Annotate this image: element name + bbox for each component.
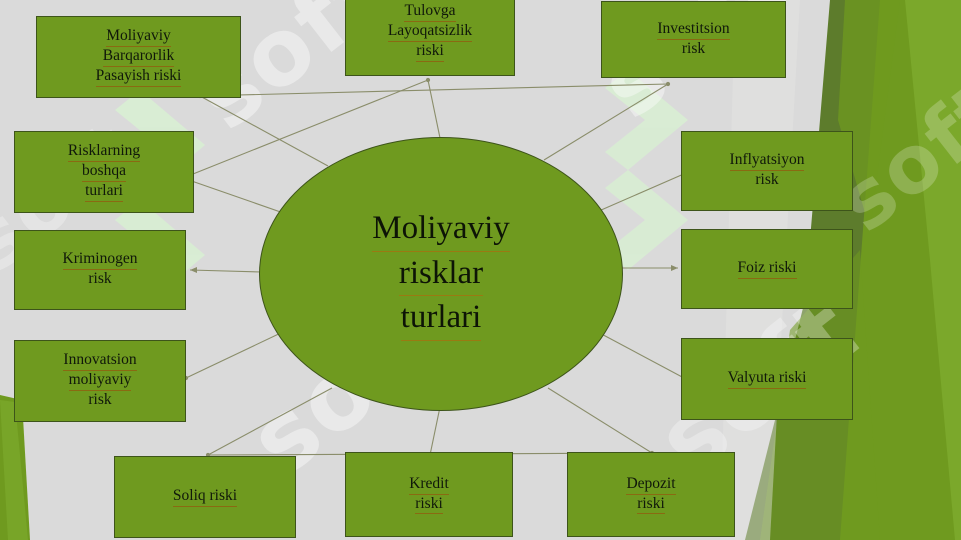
center-node: Moliyaviy risklar turlari (259, 137, 623, 411)
node-label-line: Investitsion (657, 20, 729, 40)
node-label-line: Layoqatsizlik (388, 22, 472, 42)
node-label-line: Pasayish riski (96, 67, 182, 87)
node-label-line: riski (415, 495, 443, 515)
node-label-line: Soliq riski (173, 487, 237, 507)
node-label-line: Foiz riski (738, 259, 797, 279)
node-foiz-riski[interactable]: Foiz riski (681, 229, 853, 309)
node-label-line: risk (755, 171, 778, 191)
node-label-line: Inflyatsiyon (730, 151, 805, 171)
slide-canvas: soft soft soft soft soft soft (0, 0, 961, 540)
node-inflyatsiyon-risk[interactable]: Inflyatsiyon risk (681, 131, 853, 211)
center-line-2: risklar (399, 252, 483, 297)
node-label-line: risk (88, 270, 111, 290)
node-label-line: Depozit (626, 475, 675, 495)
node-label-line: Innovatsion (63, 351, 136, 371)
center-line-1: Moliyaviy (372, 207, 510, 252)
node-tulovga-layoqatsizlik-riski[interactable]: Tulovga Layoqatsizlik riski (345, 0, 515, 76)
node-label-line: Valyuta riski (728, 369, 807, 389)
node-kriminogen-risk[interactable]: Kriminogen risk (14, 230, 186, 310)
node-label-line: risk (88, 391, 111, 411)
center-line-3: turlari (401, 296, 482, 341)
node-soliq-riski[interactable]: Soliq riski (114, 456, 296, 538)
node-label-line: Moliyaviy (106, 27, 171, 47)
node-label-line: Risklarning (68, 142, 140, 162)
node-label-line: risk (682, 40, 705, 60)
node-label-line: riski (637, 495, 665, 515)
node-label-line: Tulovga (404, 2, 455, 22)
node-innovatsion-moliyaviy-risk[interactable]: Innovatsion moliyaviy risk (14, 340, 186, 422)
node-label-line: moliyaviy (69, 371, 132, 391)
node-kredit-riski[interactable]: Kredit riski (345, 452, 513, 537)
node-label-line: riski (416, 42, 444, 62)
node-label-line: boshqa (82, 162, 126, 182)
node-label-line: Kredit (409, 475, 449, 495)
node-label-line: Kriminogen (63, 250, 138, 270)
node-label-line: Barqarorlik (103, 47, 174, 67)
node-valyuta-riski[interactable]: Valyuta riski (681, 338, 853, 420)
node-depozit-riski[interactable]: Depozit riski (567, 452, 735, 537)
node-investitsion-risk[interactable]: Investitsion risk (601, 1, 786, 78)
node-risklarning-boshqa-turlari[interactable]: Risklarning boshqa turlari (14, 131, 194, 213)
node-label-line: turlari (85, 182, 123, 202)
node-moliyaviy-barqarorlik-pasayish-riski[interactable]: Moliyaviy Barqarorlik Pasayish riski (36, 16, 241, 98)
